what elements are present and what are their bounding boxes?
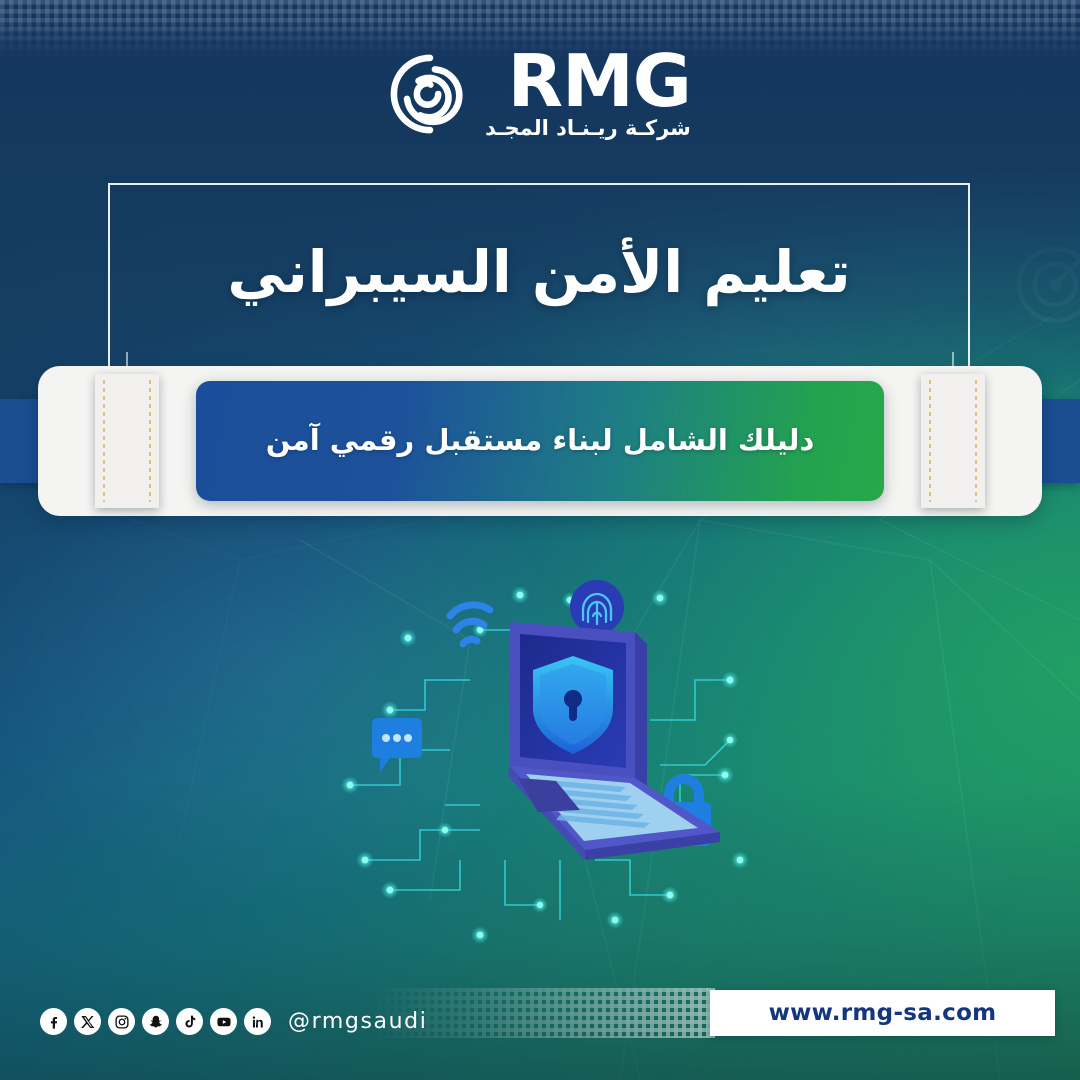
page-title: تعليم الأمن السيبراني xyxy=(108,236,970,309)
logo-text-block: RMG شركـة ريـنـاد المجـد xyxy=(485,48,691,140)
rmg-spiral-logo-icon xyxy=(389,53,471,135)
snapchat-icon[interactable] xyxy=(142,1008,169,1035)
website-url: www.rmg-sa.com xyxy=(769,1000,997,1026)
tiktok-icon[interactable] xyxy=(176,1008,203,1035)
perforated-tab-left xyxy=(95,374,159,508)
chat-bubble-icon xyxy=(372,718,422,772)
brand-logo: RMG شركـة ريـنـاد المجـد xyxy=(0,48,1080,140)
social-post-canvas: RMG شركـة ريـنـاد المجـد تعليم الأمن الس… xyxy=(0,0,1080,1080)
social-handle: @rmgsaudi xyxy=(288,1009,427,1034)
isometric-laptop-cybersecurity-illustration xyxy=(330,560,770,950)
logo-wordmark: RMG xyxy=(508,48,691,114)
wifi-icon xyxy=(450,605,490,644)
page-subtitle: دليلك الشامل لبناء مستقبل رقمي آمن xyxy=(248,422,833,460)
fingerprint-icon xyxy=(570,580,624,634)
hanger-string-right xyxy=(952,352,954,368)
hanger-string-left xyxy=(126,352,128,368)
linkedin-icon[interactable] xyxy=(244,1008,271,1035)
logo-arabic-name: شركـة ريـنـاد المجـد xyxy=(485,116,691,140)
perforated-tab-right xyxy=(921,374,985,508)
instagram-icon[interactable] xyxy=(108,1008,135,1035)
social-links: @rmgsaudi xyxy=(40,1008,427,1035)
website-url-box[interactable]: www.rmg-sa.com xyxy=(710,990,1055,1036)
facebook-icon[interactable] xyxy=(40,1008,67,1035)
subtitle-banner: دليلك الشامل لبناء مستقبل رقمي آمن xyxy=(196,381,884,501)
laptop xyxy=(508,622,720,860)
youtube-icon[interactable] xyxy=(210,1008,237,1035)
x-twitter-icon[interactable] xyxy=(74,1008,101,1035)
